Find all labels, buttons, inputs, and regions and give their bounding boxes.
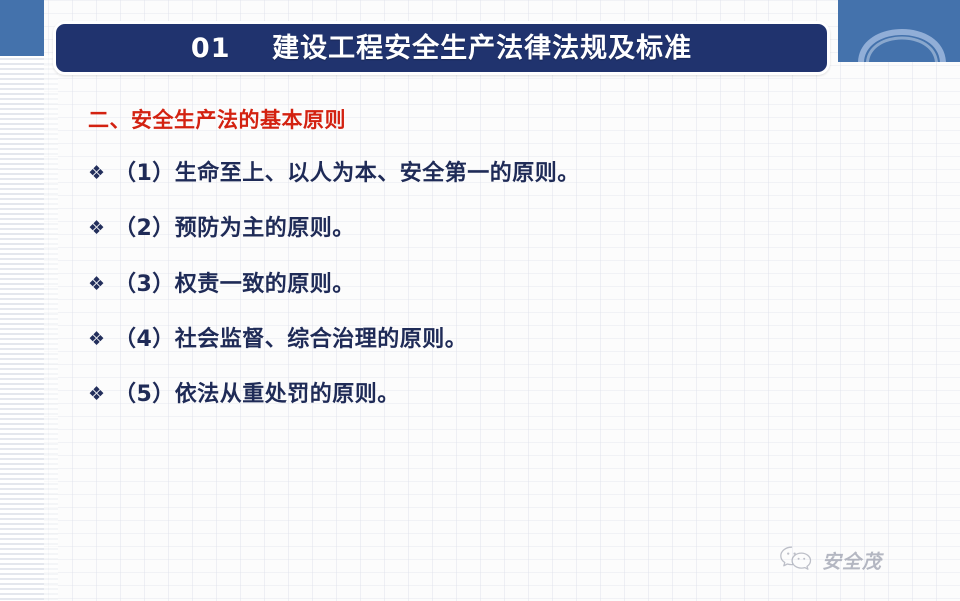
diamond-bullet-icon: ❖ [88, 164, 114, 183]
top-left-blue-block [0, 0, 44, 56]
watermark-label: 安全茂 [822, 547, 882, 574]
watermark: 安全茂 [779, 545, 882, 575]
list-item: ❖ （3）权责一致的原则。 [88, 272, 960, 297]
diamond-bullet-icon: ❖ [88, 275, 114, 294]
list-item: ❖ （4）社会监督、综合治理的原则。 [88, 327, 960, 352]
diamond-bullet-icon: ❖ [88, 219, 114, 238]
list-item: ❖ （2）预防为主的原则。 [88, 216, 960, 241]
list-item-label: （4）社会监督、综合治理的原则。 [114, 327, 467, 352]
list-item-label: （2）预防为主的原则。 [114, 216, 355, 241]
principles-list: ❖ （1）生命至上、以人为本、安全第一的原则。 ❖ （2）预防为主的原则。 ❖ … [0, 161, 960, 407]
slide-title-banner: 01 建设工程安全生产法律法规及标准 [53, 21, 830, 75]
list-item: ❖ （5）依法从重处罚的原则。 [88, 382, 960, 407]
section-heading: 二、安全生产法的基本原则 [88, 95, 960, 131]
list-item-label: （5）依法从重处罚的原则。 [114, 382, 400, 407]
page-title: 01 建设工程安全生产法律法规及标准 [191, 35, 692, 62]
list-item-label: （1）生命至上、以人为本、安全第一的原则。 [114, 161, 580, 186]
diamond-bullet-icon: ❖ [88, 330, 114, 349]
diamond-bullet-icon: ❖ [88, 385, 114, 404]
slide-canvas: 01 建设工程安全生产法律法规及标准 二、安全生产法的基本原则 ❖ （1）生命至… [0, 0, 960, 601]
wechat-icon [779, 545, 813, 575]
list-item-label: （3）权责一致的原则。 [114, 272, 355, 297]
arc-decoration-icon [852, 2, 952, 64]
list-item: ❖ （1）生命至上、以人为本、安全第一的原则。 [88, 161, 960, 186]
slide-body: 二、安全生产法的基本原则 ❖ （1）生命至上、以人为本、安全第一的原则。 ❖ （… [0, 95, 960, 407]
